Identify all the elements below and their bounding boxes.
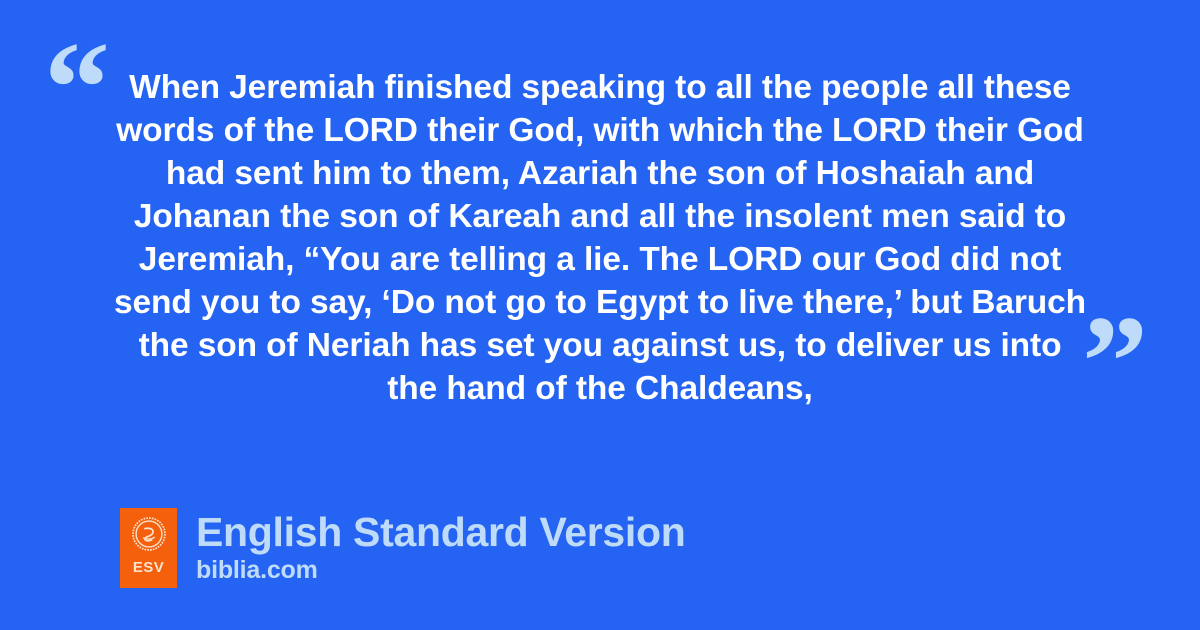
bible-version-name: English Standard Version <box>196 509 685 555</box>
quote-line: Jeremiah, “You are telling a lie. The LO… <box>108 238 1092 281</box>
quote-line: Johanan the son of Kareah and all the in… <box>108 195 1092 238</box>
quote-line: send you to say, ‘Do not go to Egypt to … <box>108 281 1092 324</box>
quote-line: the son of Neriah has set you against us… <box>108 324 1092 367</box>
site-name: biblia.com <box>196 556 685 584</box>
attribution-text: English Standard Version biblia.com <box>196 508 685 584</box>
quote-line: the hand of the Chaldeans, <box>108 367 1092 410</box>
close-quote-icon: ” <box>1082 296 1148 428</box>
open-quote-icon: “ <box>44 22 110 154</box>
bible-verse-card: “ When Jeremiah finished speaking to all… <box>0 0 1200 630</box>
quote-line: words of the LORD their God, with which … <box>108 109 1092 152</box>
quote-line: had sent him to them, Azariah the son of… <box>108 152 1092 195</box>
verse-quote-text: When Jeremiah finished speaking to all t… <box>108 66 1092 410</box>
quote-line: When Jeremiah finished speaking to all t… <box>108 66 1092 109</box>
esv-abbr-label: ESV <box>133 560 164 575</box>
attribution: ESV English Standard Version biblia.com <box>120 508 685 588</box>
esv-seal-icon <box>132 517 166 551</box>
esv-logo: ESV <box>120 508 177 588</box>
